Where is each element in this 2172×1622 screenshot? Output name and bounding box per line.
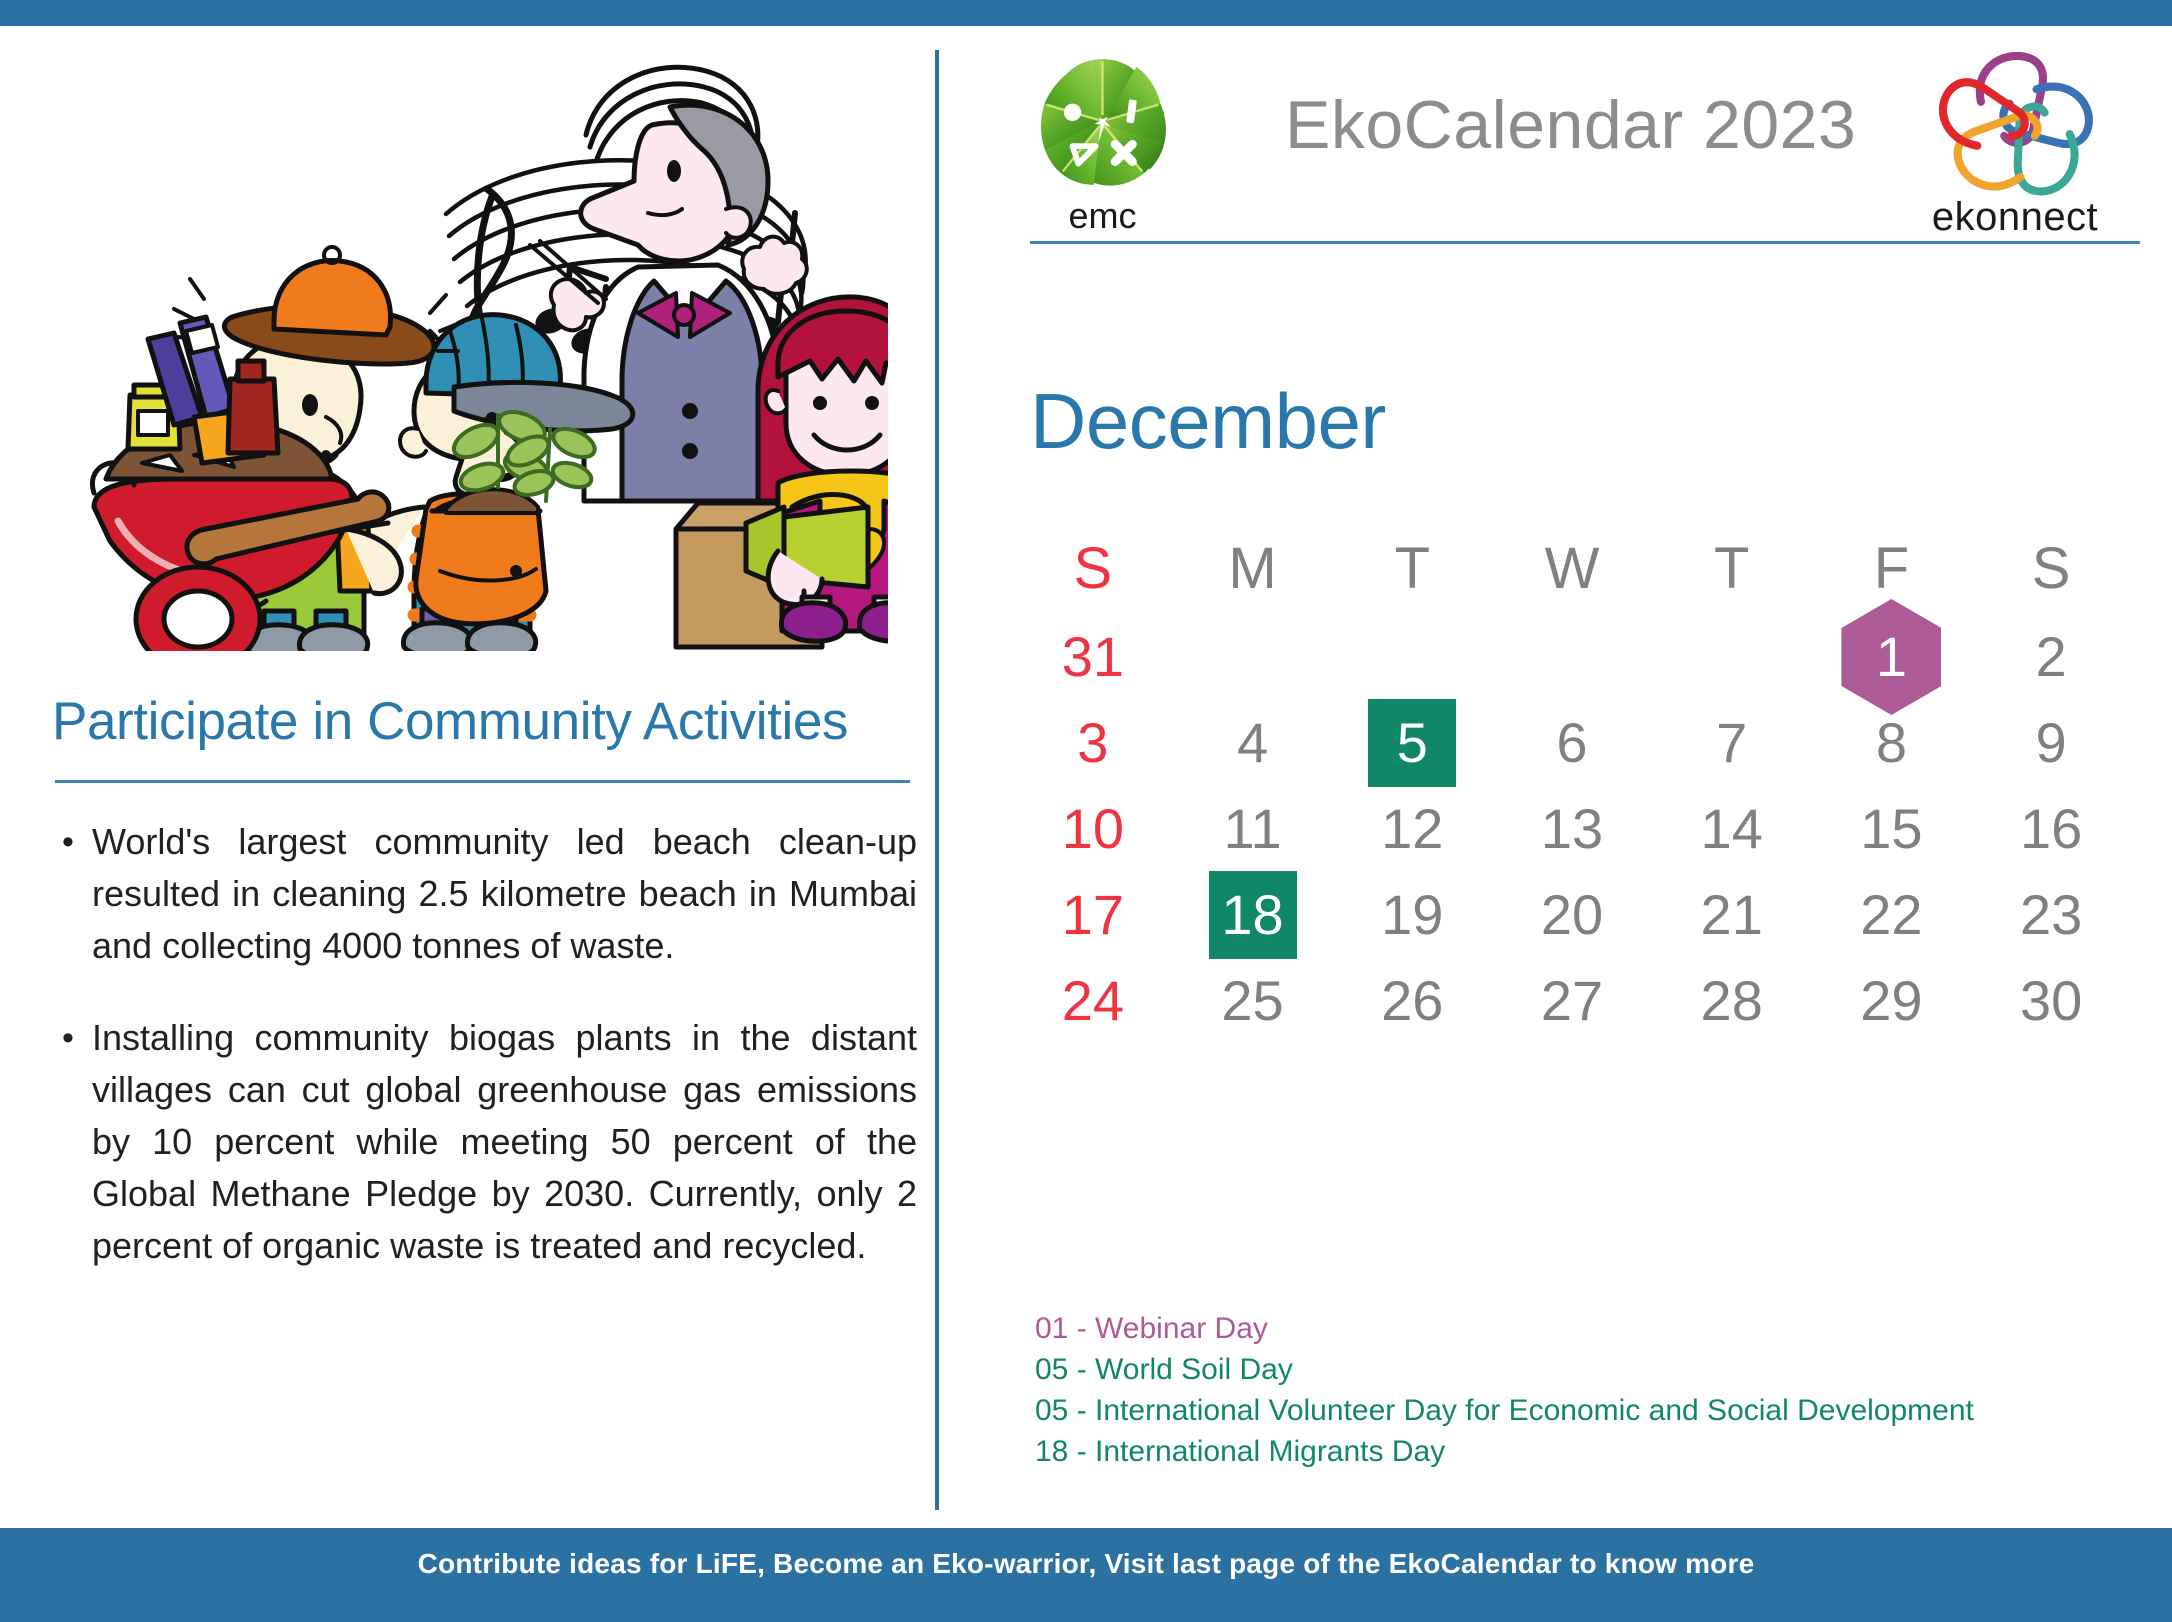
calendar-day-cell[interactable]: 5 [1332, 700, 1492, 786]
calendar-day-cell[interactable]: 27 [1492, 958, 1652, 1044]
title-underline [55, 780, 910, 783]
facts-bullet-list: • World's largest community led beach cl… [62, 816, 917, 1312]
calendar-day-cell[interactable]: 14 [1652, 786, 1812, 872]
calendar-day-cell[interactable]: 31 [1013, 614, 1173, 700]
calendar-day-number: 23 [2020, 887, 2082, 943]
calendar-day-number: 27 [1541, 973, 1603, 1029]
calendar-day-number: 20 [1541, 887, 1603, 943]
calendar-day-cell[interactable]: 8 [1812, 700, 1972, 786]
left-panel: Participate in Community Activities • Wo… [0, 26, 930, 1526]
calendar-day-cell[interactable]: 15 [1812, 786, 1972, 872]
dow-header-sunday: S [1013, 528, 1173, 608]
calendar-day-cell[interactable]: 26 [1332, 958, 1492, 1044]
calendar-day-cell[interactable]: 2 [1971, 614, 2131, 700]
calendar-day-number: 25 [1221, 973, 1283, 1029]
header-divider [1030, 241, 2140, 244]
calendar-day-cell[interactable]: 29 [1812, 958, 1972, 1044]
list-item: • World's largest community led beach cl… [62, 816, 917, 972]
calendar-day-cell[interactable]: 21 [1652, 872, 1812, 958]
calendar-day-cell[interactable]: 10 [1013, 786, 1173, 872]
calendar-day-number: 22 [1860, 887, 1922, 943]
calendar-day-number: 3 [1077, 715, 1108, 771]
calendar-day-cell[interactable]: 28 [1652, 958, 1812, 1044]
calendar-day-cell[interactable]: 17 [1013, 872, 1173, 958]
footer-banner-text: Contribute ideas for LiFE, Become an Eko… [418, 1528, 1755, 1580]
bullet-marker-icon: • [62, 1012, 92, 1272]
calendar-day-number: 11 [1223, 801, 1281, 857]
calendar-day-number: 18 [1221, 887, 1283, 943]
calendar-day-cell[interactable]: 22 [1812, 872, 1972, 958]
calendar-day-cell[interactable]: 13 [1492, 786, 1652, 872]
calendar-day-empty [1492, 614, 1652, 700]
calendar-day-number: 4 [1237, 715, 1268, 771]
ekonnect-logo-label: ekonnect [1895, 196, 2135, 238]
calendar-day-number: 5 [1397, 715, 1428, 771]
calendar-day-number: 29 [1860, 973, 1922, 1029]
calendar-day-cell[interactable]: 23 [1971, 872, 2131, 958]
leaf-pinwheel-icon [1030, 48, 1175, 196]
emc-logo-label: emc [1030, 196, 1175, 236]
community-activities-illustration [78, 31, 888, 651]
calendar-title: EkoCalendar 2023 [1285, 86, 1856, 164]
dow-header-thursday: T [1652, 528, 1812, 608]
event-item: 05 - World Soil Day [1035, 1349, 2135, 1390]
calendar-day-number: 7 [1716, 715, 1747, 771]
dow-header-wednesday: W [1492, 528, 1652, 608]
calendar-day-number: 14 [1701, 801, 1763, 857]
month-label: December [1030, 381, 1386, 461]
dow-header-monday: M [1173, 528, 1333, 608]
calendar-day-number: 13 [1541, 801, 1603, 857]
page-title: Participate in Community Activities [52, 691, 912, 752]
calendar-day-cell[interactable]: 1 [1812, 614, 1972, 700]
bullet-marker-icon: • [62, 816, 92, 972]
calendar-day-number: 12 [1381, 801, 1443, 857]
calendar-day-empty [1652, 614, 1812, 700]
calendar-day-number: 1 [1876, 629, 1907, 685]
event-item: 01 - Webinar Day [1035, 1308, 2135, 1349]
calendar-day-number: 2 [2036, 629, 2067, 685]
calendar-day-empty [1332, 614, 1492, 700]
dow-header-tuesday: T [1332, 528, 1492, 608]
calendar-weeks: 3112345678910111213141516171819202122232… [1013, 614, 2131, 1044]
five-petal-knot-icon [1924, 48, 2106, 196]
calendar-day-cell[interactable]: 30 [1971, 958, 2131, 1044]
calendar-header: emc EkoCalendar 2023 [1030, 48, 2135, 238]
calendar-day-cell[interactable]: 6 [1492, 700, 1652, 786]
calendar-week-row: 24252627282930 [1013, 958, 2131, 1044]
calendar-day-number: 28 [1701, 973, 1763, 1029]
calendar-day-cell[interactable]: 12 [1332, 786, 1492, 872]
calendar-day-number: 10 [1062, 801, 1124, 857]
calendar-day-number: 8 [1876, 715, 1907, 771]
calendar-day-number: 19 [1381, 887, 1443, 943]
events-list: 01 - Webinar Day 05 - World Soil Day 05 … [1035, 1308, 2135, 1472]
calendar-day-number: 31 [1062, 629, 1124, 685]
calendar-day-number: 15 [1860, 801, 1922, 857]
calendar-day-number: 6 [1556, 715, 1587, 771]
dow-header-saturday: S [1971, 528, 2131, 608]
calendar-week-row: 10111213141516 [1013, 786, 2131, 872]
list-item-text: Installing community biogas plants in th… [92, 1012, 917, 1272]
top-accent-bar [0, 0, 2172, 26]
calendar-day-cell[interactable]: 7 [1652, 700, 1812, 786]
calendar-day-number: 9 [2036, 715, 2067, 771]
calendar-day-cell[interactable]: 4 [1173, 700, 1333, 786]
calendar-day-number: 24 [1062, 973, 1124, 1029]
calendar-day-cell[interactable]: 11 [1173, 786, 1333, 872]
dow-header-friday: F [1812, 528, 1972, 608]
ekocalendar-page: Participate in Community Activities • Wo… [0, 0, 2172, 1622]
calendar-day-cell[interactable]: 9 [1971, 700, 2131, 786]
calendar-day-cell[interactable]: 16 [1971, 786, 2131, 872]
list-item: • Installing community biogas plants in … [62, 1012, 917, 1272]
event-item: 05 - International Volunteer Day for Eco… [1035, 1390, 2135, 1431]
right-panel: emc EkoCalendar 2023 [935, 26, 2172, 1526]
event-item: 18 - International Migrants Day [1035, 1431, 2135, 1472]
calendar-week-row: 3456789 [1013, 700, 2131, 786]
calendar-week-row: 17181920212223 [1013, 872, 2131, 958]
calendar-day-number: 16 [2020, 801, 2082, 857]
list-item-text: World's largest community led beach clea… [92, 816, 917, 972]
calendar-day-cell[interactable]: 18 [1173, 872, 1333, 958]
calendar-day-cell[interactable]: 3 [1013, 700, 1173, 786]
calendar-day-number: 21 [1701, 887, 1763, 943]
calendar-grid: S M T W T F S 31123456789101112131415161… [1013, 528, 2131, 1044]
calendar-week-row: 3112 [1013, 614, 2131, 700]
footer-banner: Contribute ideas for LiFE, Become an Eko… [0, 1528, 2172, 1622]
calendar-day-cell[interactable]: 24 [1013, 958, 1173, 1044]
calendar-day-number: 26 [1381, 973, 1443, 1029]
calendar-day-cell[interactable]: 20 [1492, 872, 1652, 958]
emc-logo: emc [1030, 48, 1175, 238]
calendar-day-cell[interactable]: 25 [1173, 958, 1333, 1044]
ekonnect-logo: ekonnect [1895, 48, 2135, 240]
day-of-week-header-row: S M T W T F S [1013, 528, 2131, 608]
calendar-day-cell[interactable]: 19 [1332, 872, 1492, 958]
calendar-day-empty [1173, 614, 1333, 700]
calendar-day-number: 17 [1062, 887, 1124, 943]
calendar-day-number: 30 [2020, 973, 2082, 1029]
